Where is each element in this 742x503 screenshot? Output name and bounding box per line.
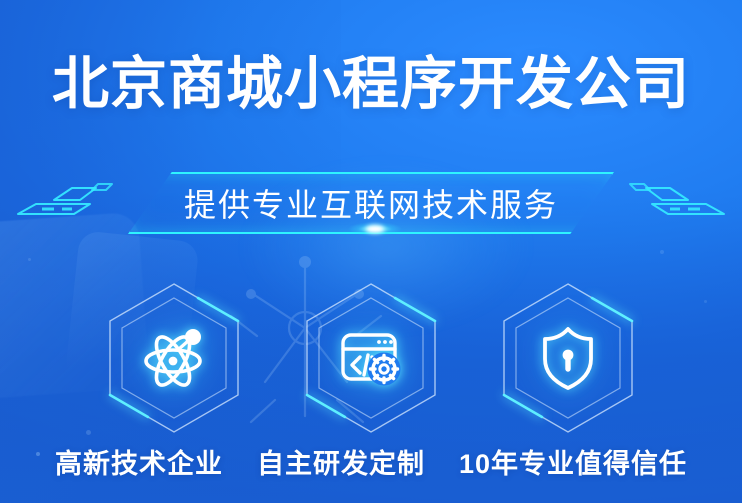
feature-hexagon-row (0, 282, 742, 434)
feature-item-1[interactable] (98, 282, 250, 434)
arrow-deco-right-icon (616, 180, 728, 228)
arrow-deco-left-icon (14, 180, 126, 228)
lens-flare-icon (340, 220, 410, 238)
page-title: 北京商城小程序开发公司 (0, 50, 742, 118)
code-window-gear-icon (295, 320, 447, 396)
atom-icon (98, 320, 250, 396)
shield-lock-icon (492, 320, 644, 396)
feature-label-row: 高新技术企业 自主研发定制 10年专业值得信任 (0, 440, 742, 482)
feature-item-2[interactable] (295, 282, 447, 434)
feature-label-1: 高新技术企业 (51, 442, 227, 481)
promo-poster: 北京商城小程序开发公司 提供专业互联网技术服务 (0, 0, 742, 503)
subtitle-banner: 提供专业互联网技术服务 (0, 172, 742, 236)
feature-item-3[interactable] (492, 282, 644, 434)
feature-label-2: 自主研发定制 (253, 442, 429, 481)
feature-label-3: 10年专业值得信任 (455, 442, 691, 481)
